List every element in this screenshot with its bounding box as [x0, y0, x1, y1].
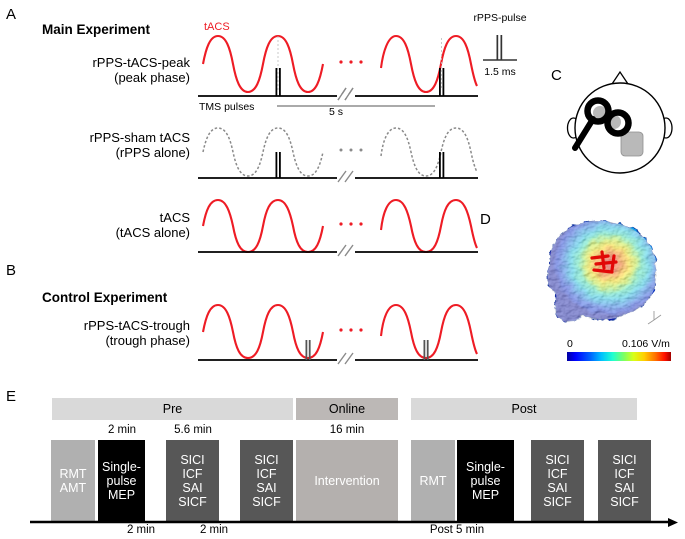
- phase-bar-label: Online: [329, 402, 365, 416]
- ellipsis-dot: [349, 222, 352, 225]
- waveform-row-rpps-tacs-peak: [198, 28, 478, 100]
- phase-bar-post: Post: [411, 398, 637, 420]
- ellipsis-dot: [359, 60, 362, 63]
- timeline-block-sici-icf-sai-sicf-pre-2: SICI ICF SAI SICF: [240, 440, 293, 522]
- tacs-sine-right: [381, 305, 477, 358]
- sham-sine-left: [203, 128, 323, 176]
- block-line: AMT: [59, 481, 86, 495]
- ellipsis-dot: [339, 328, 342, 331]
- phase-bar-online: Online: [296, 398, 398, 420]
- ellipsis-dot: [349, 60, 352, 63]
- phase-bar-pre: Pre: [52, 398, 293, 420]
- timeline-block-sici-icf-sai-sicf-post-1: SICI ICF SAI SICF: [531, 440, 584, 522]
- condition-line-2: (tACS alone): [40, 225, 190, 240]
- tms-pulse: [427, 340, 429, 360]
- tms-pulse: [439, 68, 441, 96]
- ellipsis-dot: [340, 149, 343, 152]
- block-line: SICF: [543, 495, 571, 509]
- phase-bar-label: Pre: [163, 402, 182, 416]
- duration-label-bottom-2: 2 min: [190, 524, 238, 536]
- tms-pulse: [424, 340, 426, 360]
- block-line: RMT: [419, 474, 446, 488]
- ellipsis-dot: [349, 328, 352, 331]
- panel-letter-b: B: [6, 262, 16, 279]
- sham-sine-right: [381, 128, 477, 176]
- duration-label-5s: 5 s: [316, 106, 356, 118]
- ellipsis-dot: [339, 60, 342, 63]
- waveform-row-tacs-alone: [198, 196, 478, 256]
- block-line: SAI: [178, 481, 206, 495]
- block-line: MEP: [466, 488, 505, 502]
- tms-pulse: [443, 68, 445, 96]
- tacs-sine-right: [381, 200, 477, 252]
- block-line: ICF: [543, 467, 571, 481]
- tms-pulse: [306, 340, 308, 360]
- panel-b-heading: Control Experiment: [42, 290, 167, 305]
- electrode-pad: [621, 132, 643, 156]
- block-line: SAI: [252, 481, 280, 495]
- condition-line-2: (rPPS alone): [40, 145, 190, 160]
- ellipsis-dot: [359, 222, 362, 225]
- tms-pulse: [279, 152, 281, 178]
- tms-pulse: [276, 68, 278, 96]
- panel-a-heading: Main Experiment: [42, 22, 150, 37]
- colorbar-min-label: 0: [567, 338, 573, 350]
- block-line: ICF: [610, 467, 638, 481]
- timeline-block-single-pulse-mep-post: Single- pulse MEP: [457, 440, 514, 522]
- condition-line-1: rPPS-sham tACS: [40, 130, 190, 145]
- block-line: pulse: [102, 474, 141, 488]
- ellipsis-dot: [339, 222, 342, 225]
- axis-arrowhead: [668, 518, 678, 527]
- tms-pulse: [279, 68, 281, 96]
- condition-line-1: rPPS-tACS-peak: [40, 55, 190, 70]
- block-line: SICF: [610, 495, 638, 509]
- block-line: ICF: [252, 467, 280, 481]
- condition-line-2: (trough phase): [40, 333, 190, 348]
- block-line: SAI: [610, 481, 638, 495]
- duration-bracket-5s: [276, 104, 436, 120]
- nose: [612, 72, 628, 84]
- timeline-block-single-pulse-mep-pre: Single- pulse MEP: [98, 440, 145, 522]
- inset-pulse: [497, 35, 499, 60]
- block-line: SICI: [610, 453, 638, 467]
- colorbar-max-label: 0.106 V/m: [622, 338, 670, 350]
- block-line: ICF: [178, 467, 206, 481]
- condition-line-2: (peak phase): [40, 70, 190, 85]
- duration-label-bottom-1: 2 min: [117, 524, 165, 536]
- waveform-row-rpps-sham-tacs: [198, 122, 478, 182]
- tacs-sine-left: [203, 200, 323, 252]
- block-line: SICI: [252, 453, 280, 467]
- panel-letter-d: D: [480, 211, 491, 228]
- tms-pulses-label: TMS pulses: [199, 101, 254, 113]
- block-line: SICI: [543, 453, 571, 467]
- rpps-pulse-inset-duration: 1.5 ms: [455, 66, 545, 78]
- block-line: pulse: [466, 474, 505, 488]
- timeline-block-intervention: Intervention: [296, 440, 398, 522]
- ellipsis-dot: [350, 149, 353, 152]
- timeline-block-sici-icf-sai-sicf-post-2: SICI ICF SAI SICF: [598, 440, 651, 522]
- timeline-block-rmt-post: RMT: [411, 440, 455, 522]
- condition-line-1: tACS: [40, 210, 190, 225]
- condition-label-rpps-tacs-peak: rPPS-tACS-peak (peak phase): [40, 55, 190, 85]
- panel-letter-c: C: [551, 67, 562, 84]
- block-line: SAI: [543, 481, 571, 495]
- timeline-block-rmt-amt: RMT AMT: [51, 440, 95, 522]
- tms-pulse: [276, 152, 278, 178]
- timeline-block-sici-icf-sai-sicf-pre-1: SICI ICF SAI SICF: [166, 440, 219, 522]
- duration-label-top-2: 5.6 min: [165, 424, 221, 436]
- duration-label-top-1: 2 min: [98, 424, 146, 436]
- block-line: Single-: [102, 460, 141, 474]
- panel-letter-a: A: [6, 6, 16, 23]
- rpps-pulse-inset-glyph: [478, 30, 522, 64]
- brain-efield-model: [530, 212, 675, 337]
- block-line: SICF: [178, 495, 206, 509]
- tacs-sine-right: [381, 36, 477, 92]
- block-line: RMT: [59, 467, 86, 481]
- orientation-axes-icon: [648, 311, 661, 324]
- ellipsis-dot: [359, 328, 362, 331]
- condition-line-1: rPPS-tACS-trough: [40, 318, 190, 333]
- tms-pulse: [309, 340, 311, 360]
- block-line: MEP: [102, 488, 141, 502]
- duration-label-top-3: 16 min: [322, 424, 372, 436]
- block-line: Intervention: [314, 474, 379, 488]
- panel-letter-e: E: [6, 388, 16, 405]
- waveform-row-rpps-tacs-trough: [198, 300, 478, 364]
- ellipsis-dot: [360, 149, 363, 152]
- condition-label-tacs-alone: tACS (tACS alone): [40, 210, 190, 240]
- block-line: Single-: [466, 460, 505, 474]
- tacs-sine-left: [203, 36, 323, 92]
- condition-label-rpps-sham-tacs: rPPS-sham tACS (rPPS alone): [40, 130, 190, 160]
- inset-pulse: [501, 35, 503, 60]
- block-line: SICI: [178, 453, 206, 467]
- rpps-pulse-inset-title: rPPS-pulse: [455, 12, 545, 24]
- condition-label-rpps-tacs-trough: rPPS-tACS-trough (trough phase): [40, 318, 190, 348]
- tms-pulse: [443, 152, 445, 178]
- head-coil-diagram: [563, 70, 685, 185]
- efield-colorbar: [567, 352, 671, 361]
- tms-pulse: [439, 152, 441, 178]
- duration-label-bottom-3: Post 5 min: [417, 524, 497, 536]
- phase-bar-label: Post: [511, 402, 536, 416]
- block-line: SICF: [252, 495, 280, 509]
- tacs-sine-left: [203, 305, 323, 358]
